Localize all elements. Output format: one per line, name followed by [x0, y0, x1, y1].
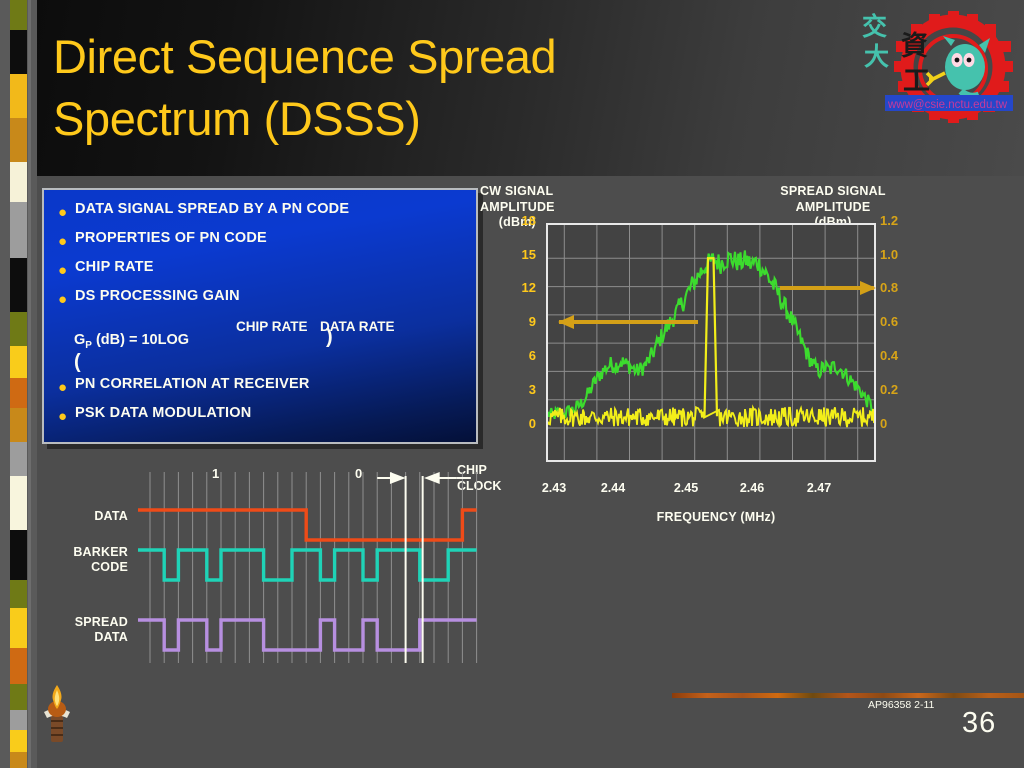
strip-band — [10, 710, 27, 730]
barker-code-trace — [138, 550, 477, 580]
left-tick-18: 18 — [506, 213, 536, 228]
chip-clock-arrow-right-icon — [390, 472, 406, 484]
timing-diagram: DATA BARKER CODE SPREAD DATA 1 0 CHIP CL… — [42, 458, 522, 680]
strip-band — [10, 530, 27, 580]
torch-artwork — [40, 682, 74, 744]
bullet-label: PN CORRELATION AT RECEIVER — [75, 377, 310, 393]
logo-char-3: 資 — [901, 31, 928, 62]
strip-band — [10, 202, 27, 258]
right-tick-0p8: 0.8 — [880, 280, 914, 295]
bullet-list-panel: ● DATA SIGNAL SPREAD BY A PN CODE ● PROP… — [42, 188, 478, 444]
footer-rule — [672, 693, 1024, 698]
x-axis-label: FREQUENCY (MHz) — [616, 510, 816, 524]
formula-numerator: CHIP RATE — [232, 319, 312, 334]
spectrum-chart: CW SIGNAL AMPLITUDE (dBm) SPREAD SIGNAL … — [470, 176, 1024, 536]
logo-char-2: 大 — [864, 42, 889, 71]
strip-band — [10, 0, 27, 30]
data-trace — [138, 510, 477, 540]
formula-symbol: G — [74, 332, 85, 348]
bullet-label: DATA SIGNAL SPREAD BY A PN CODE — [75, 202, 349, 218]
bullet-dot-icon: ● — [58, 289, 75, 307]
bullet-dot-icon: ● — [58, 231, 75, 249]
right-tick-1p0: 1.0 — [880, 247, 914, 262]
strip-band — [10, 312, 27, 346]
right-axis-title-l1: SPREAD SIGNAL — [758, 184, 908, 200]
chip-clock-arrow-left-icon — [424, 472, 440, 484]
right-tick-0: 0 — [880, 416, 914, 431]
left-tick-3: 3 — [506, 382, 536, 397]
list-item: ● PSK DATA MODULATION — [58, 406, 466, 424]
strip-band — [10, 442, 27, 476]
x-tick-2p46: 2.46 — [728, 481, 776, 495]
list-item: ● PN CORRELATION AT RECEIVER — [58, 377, 466, 395]
right-tick-0p4: 0.4 — [880, 348, 914, 363]
logo-char-1: 交 — [862, 12, 887, 41]
left-color-strip — [0, 0, 37, 768]
left-tick-9: 9 — [506, 314, 536, 329]
left-tick-15: 15 — [506, 247, 536, 262]
strip-band — [10, 258, 27, 312]
list-item: ● DS PROCESSING GAIN — [58, 289, 466, 307]
right-tick-0p2: 0.2 — [880, 382, 914, 397]
x-tick-2p47: 2.47 — [795, 481, 843, 495]
formula-right-paren: ) — [326, 326, 333, 349]
waveform-svg — [42, 458, 522, 680]
bullet-dot-icon: ● — [58, 202, 75, 220]
page-title: Direct Sequence Spread Spectrum (DSSS) — [53, 26, 833, 150]
logo-char-4: 工 — [903, 66, 930, 97]
page-number: 36 — [962, 707, 996, 740]
nctu-csie-logo: 交 大 資 工 www@csie.nctu.edu.tw — [857, 5, 1020, 133]
strip-band — [10, 118, 27, 162]
left-tick-0: 0 — [506, 416, 536, 431]
bullet-dot-icon: ● — [58, 260, 75, 278]
strip-band — [10, 378, 27, 408]
bullet-dot-icon: ● — [58, 377, 75, 395]
x-tick-2p44: 2.44 — [589, 481, 637, 495]
strip-band — [10, 730, 27, 752]
x-tick-2p43: 2.43 — [530, 481, 578, 495]
bullet-dot-icon: ● — [58, 406, 75, 424]
logo-url: www@csie.nctu.edu.tw — [887, 99, 1008, 111]
spread-data-trace — [138, 620, 477, 650]
x-tick-2p45: 2.45 — [662, 481, 710, 495]
bullet-label: CHIP RATE — [75, 260, 154, 276]
list-item: ● CHIP RATE — [58, 260, 466, 278]
formula-subscript: P — [85, 340, 92, 351]
list-item: ● DATA SIGNAL SPREAD BY A PN CODE — [58, 202, 466, 220]
formula-fraction: CHIP RATE DATA RATE — [232, 318, 398, 336]
torch-icon — [40, 682, 74, 744]
strip-band — [10, 162, 27, 202]
strip-band — [10, 476, 27, 530]
strip-band — [10, 684, 27, 710]
formula-operator: (dB) = 10LOG — [92, 332, 189, 348]
plot-svg — [548, 225, 874, 460]
strip-band — [10, 580, 27, 608]
left-tick-12: 12 — [506, 280, 536, 295]
logo-artwork: 交 大 資 工 www@csie.nctu.edu.tw — [857, 5, 1020, 133]
strip-band — [10, 752, 27, 768]
strip-band — [10, 30, 27, 74]
right-tick-1p2: 1.2 — [880, 213, 914, 228]
bullet-label: PROPERTIES OF PN CODE — [75, 231, 267, 247]
left-axis-title-l1: CW SIGNAL — [480, 184, 555, 200]
right-tick-0p6: 0.6 — [880, 314, 914, 329]
strip-edge — [28, 0, 31, 768]
plot-area — [546, 223, 876, 462]
strip-band — [10, 648, 27, 684]
strip-band — [10, 408, 27, 442]
cw-carrier-spike — [705, 258, 718, 416]
bullet-label: DS PROCESSING GAIN — [75, 289, 240, 305]
processing-gain-formula: GP (dB) = 10LOG CHIP RATE DATA RATE ) ( — [74, 318, 466, 374]
strip-band — [10, 608, 27, 648]
chip-gridlines — [150, 472, 477, 663]
strip-band — [10, 74, 27, 118]
footer-code: AP96358 2-11 — [868, 699, 934, 711]
bullet-label: PSK DATA MODULATION — [75, 406, 251, 422]
formula-lhs: GP (dB) = 10LOG — [74, 332, 189, 351]
strip-band — [10, 346, 27, 378]
formula-stray-left-paren: ( — [74, 351, 81, 374]
left-tick-6: 6 — [506, 348, 536, 363]
list-item: ● PROPERTIES OF PN CODE — [58, 231, 466, 249]
